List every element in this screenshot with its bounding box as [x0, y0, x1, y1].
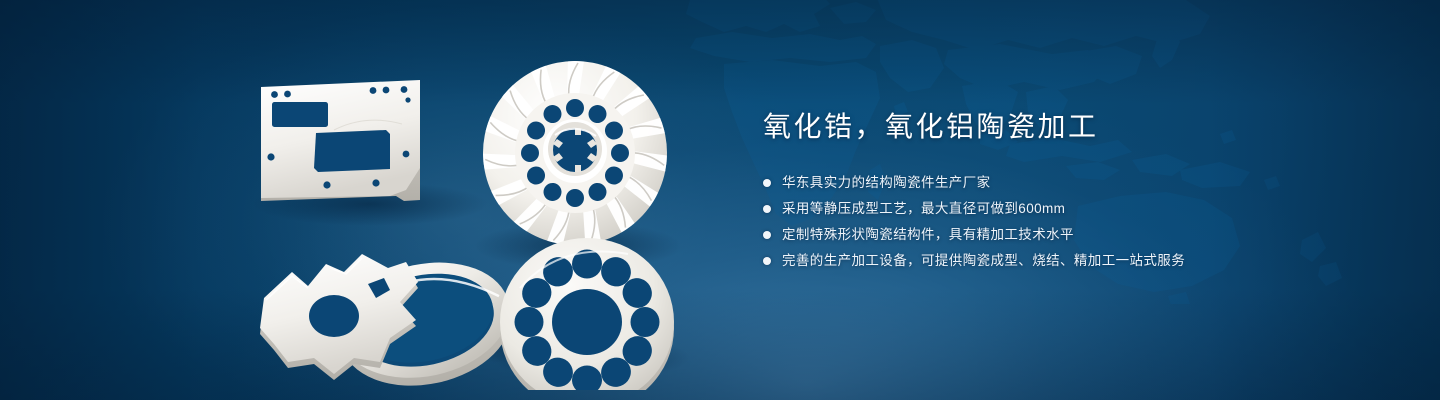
ceramic-impeller-disc	[480, 58, 671, 248]
feature-text: 完善的生产加工设备，可提供陶瓷成型、烧结、精加工一站式服务	[782, 248, 1185, 274]
bullet-dot-icon	[763, 257, 771, 265]
bullet-dot-icon	[763, 205, 771, 213]
ceramic-machined-plate	[261, 80, 420, 201]
ceramic-products-image	[230, 38, 710, 390]
list-item: 采用等静压成型工艺，最大直径可做到600mm	[763, 196, 1383, 222]
banner-headline: 氧化锆，氧化铝陶瓷加工	[763, 108, 1383, 146]
list-item: 华东具实力的结构陶瓷件生产厂家	[763, 170, 1383, 196]
list-item: 完善的生产加工设备，可提供陶瓷成型、烧结、精加工一站式服务	[763, 248, 1383, 274]
list-item: 定制特殊形状陶瓷结构件，具有精加工技术水平	[763, 222, 1383, 248]
feature-text: 定制特殊形状陶瓷结构件，具有精加工技术水平	[782, 222, 1074, 248]
promo-banner: 氧化锆，氧化铝陶瓷加工 华东具实力的结构陶瓷件生产厂家 采用等静压成型工艺，最大…	[0, 0, 1440, 400]
banner-copy: 氧化锆，氧化铝陶瓷加工 华东具实力的结构陶瓷件生产厂家 采用等静压成型工艺，最大…	[763, 108, 1383, 274]
feature-text: 采用等静压成型工艺，最大直径可做到600mm	[782, 196, 1065, 222]
bullet-dot-icon	[763, 179, 771, 187]
bullet-dot-icon	[763, 231, 771, 239]
feature-list: 华东具实力的结构陶瓷件生产厂家 采用等静压成型工艺，最大直径可做到600mm 定…	[763, 170, 1383, 274]
feature-text: 华东具实力的结构陶瓷件生产厂家	[782, 170, 991, 196]
